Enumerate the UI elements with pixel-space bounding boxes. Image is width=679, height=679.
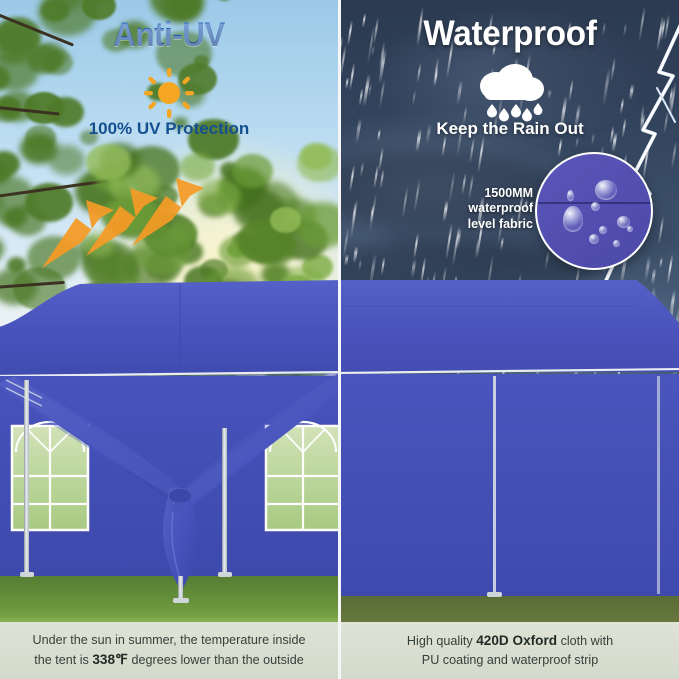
- left-caption-line1: Under the sun in summer, the temperature…: [32, 633, 305, 647]
- right-caption-highlight: 420D Oxford: [476, 633, 557, 648]
- water-bead: [567, 190, 574, 201]
- waterproof-panel: Waterproof Keep the Rain Out: [341, 0, 679, 679]
- water-bead: [613, 240, 620, 247]
- anti-uv-panel: Anti-UV 100% UV Protection Under the sun…: [0, 0, 338, 679]
- uv-subtitle: 100% UV Protection: [0, 119, 338, 139]
- water-bead: [627, 226, 633, 232]
- right-caption-bar: High quality 420D Oxford cloth with PU c…: [341, 622, 679, 679]
- left-caption-line2-b: degrees lower than the outside: [128, 653, 304, 667]
- water-bead: [599, 226, 607, 234]
- fabric-spec-line2: waterproof: [468, 201, 533, 215]
- water-bead: [591, 202, 600, 211]
- waterproof-subtitle: Keep the Rain Out: [341, 119, 679, 139]
- page-title-anti-uv: Anti-UV: [14, 16, 325, 55]
- page-title-waterproof: Waterproof: [349, 14, 670, 54]
- right-caption-line2: PU coating and waterproof strip: [422, 653, 598, 667]
- left-caption-line2-a: the tent is: [34, 653, 92, 667]
- water-bead: [563, 206, 583, 232]
- right-caption-line1-a: High quality: [407, 634, 476, 648]
- left-caption-highlight: 338℉: [92, 652, 128, 667]
- water-bead: [595, 180, 617, 200]
- panel-divider: [338, 0, 341, 679]
- rain-cloud-icon: [470, 62, 550, 124]
- canopy-tent-open: [0, 276, 338, 606]
- fabric-spec-label: 1500MM waterproof level fabric: [437, 186, 533, 232]
- left-caption-bar: Under the sun in summer, the temperature…: [0, 622, 338, 679]
- water-bead: [589, 234, 599, 244]
- fabric-magnifier-icon: [535, 152, 653, 270]
- canopy-tent-closed: [341, 276, 679, 606]
- fabric-spec-line3: level fabric: [468, 217, 533, 231]
- right-caption-line1-b: cloth with: [557, 634, 613, 648]
- sun-icon: [141, 68, 197, 118]
- rising-arrow-icon: [40, 160, 230, 275]
- infographic-stage: Anti-UV 100% UV Protection Under the sun…: [0, 0, 679, 679]
- fabric-spec-line1: 1500MM: [484, 186, 533, 200]
